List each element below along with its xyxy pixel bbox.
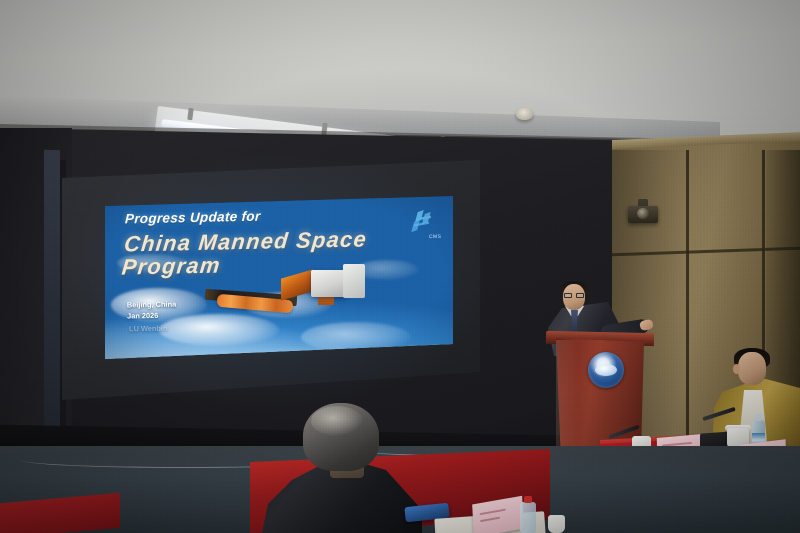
seated-attendee-ear (733, 364, 740, 374)
eyeglasses-icon (564, 293, 584, 298)
foreground-attendee-hair (311, 406, 363, 436)
seated-attendee-head (738, 352, 766, 385)
conference-room-photo: Progress Update for China Manned Space P… (0, 0, 800, 533)
water-bottle[interactable] (520, 502, 536, 533)
paper-cup[interactable] (548, 515, 565, 533)
slide-vignette (105, 196, 453, 359)
projected-slide: Progress Update for China Manned Space P… (105, 196, 453, 359)
fire-sprinkler-icon (516, 108, 533, 120)
wall-accent-strip (44, 150, 60, 450)
wall-camera-icon (628, 206, 658, 223)
podium-emblem-icon (588, 352, 624, 388)
